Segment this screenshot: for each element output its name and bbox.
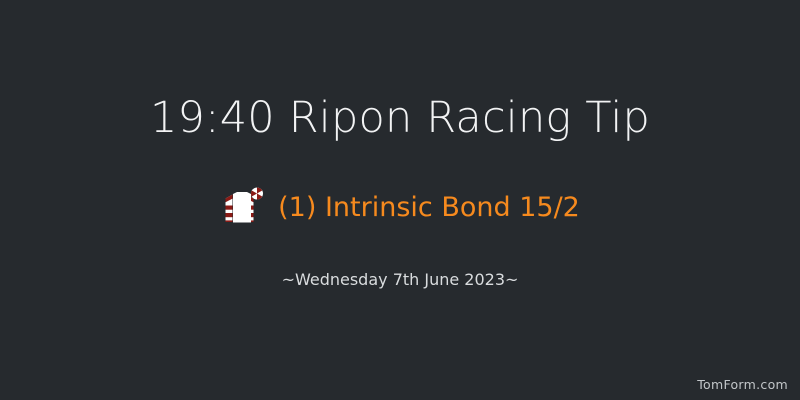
racing-tip-card: 19:40 Ripon Racing Tip: [0, 0, 800, 400]
jockey-silk-icon: [220, 185, 264, 229]
site-watermark: TomForm.com: [697, 379, 788, 392]
tip-selection-row: (1) Intrinsic Bond 15/2: [0, 185, 800, 229]
page-title: 19:40 Ripon Racing Tip: [0, 97, 800, 140]
race-date: ~Wednesday 7th June 2023~: [0, 272, 800, 288]
tip-selection-text: (1) Intrinsic Bond 15/2: [278, 194, 580, 221]
